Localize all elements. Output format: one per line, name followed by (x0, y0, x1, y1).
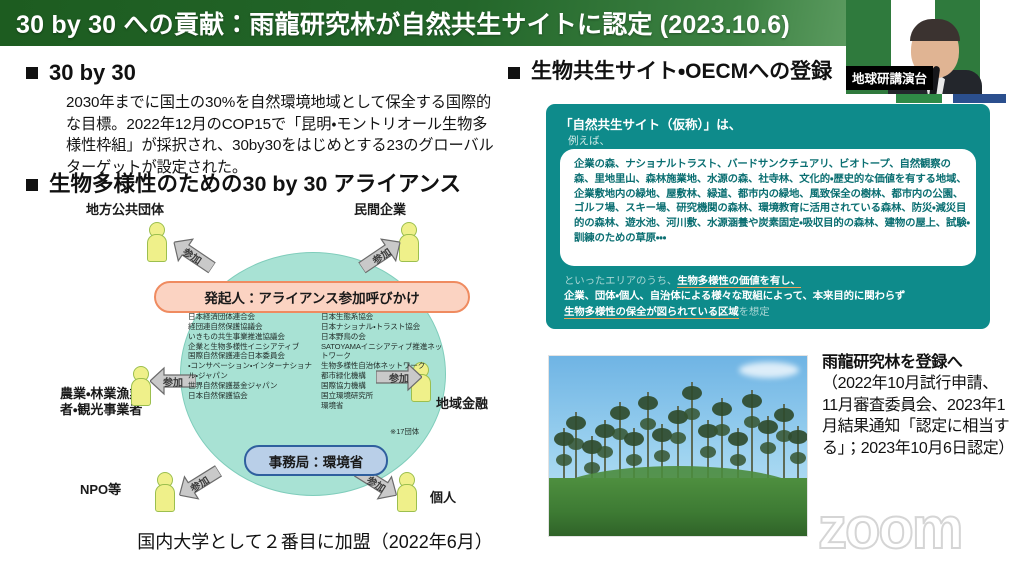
participation-arrow-local-government: 参加 (166, 230, 221, 281)
zoom-watermark: zoom (818, 498, 1018, 560)
bullet-square-icon (508, 67, 520, 79)
section-heading-oecm-label: 生物共生サイト・OECMへの登録 (531, 60, 832, 84)
section-heading-alliance: 生物多様性のための30 by 30 アライアンス (26, 172, 461, 197)
panel-footer-line3-tail: を想定 (739, 307, 770, 318)
list-item: 生物多様性自治体ネットワーク (321, 361, 446, 371)
person-icon-local-government (146, 222, 166, 260)
list-item: SATOYAMAイニシアティブ推進ネットワーク (321, 342, 446, 362)
video-speaker (887, 22, 983, 103)
list-item: 企業と生物多様性イニシアティブ (188, 342, 313, 352)
panel-footer-line2: 企業、団体・個人、自治体による様々な取組によって、本来目的に関わらず (564, 291, 905, 302)
list-item: 日本生態系協会 (321, 312, 446, 322)
secretariat-pill: 事務局：環境省 (244, 445, 388, 476)
registration-body: （2022年10月試行申請、11月審査委員会、2023年1月結果通知「認定に相当… (822, 375, 1014, 456)
list-item: 国際協力機構 (321, 381, 446, 391)
bullet-square-icon (26, 179, 38, 191)
member-organization-lists: 日本経済団体連合会 経団連自然保護協議会 いきもの共生事業推進協議会 企業と生物… (188, 312, 446, 411)
founder-pill: 発起人：アライアンス参加呼びかけ (154, 281, 470, 313)
list-item: 日本ナショナル・トラスト協会 (321, 322, 446, 332)
panel-title: 「自然共生サイト（仮称）」は、 (560, 114, 741, 133)
photo-cloud (739, 362, 799, 378)
panel-footer-line3-underlined: 生物多様性の保全が図られている区域 (564, 307, 739, 319)
panel-subtitle: 例えば、 (568, 133, 610, 148)
member-org-column-left: 日本経済団体連合会 経団連自然保護協議会 いきもの共生事業推進協議会 企業と生物… (188, 312, 313, 411)
actor-label-local-government: 地方公共団体 (86, 202, 164, 218)
bullet-square-icon (26, 67, 38, 79)
list-item: ・コンサベーション・インターナショナル・ジャパン (188, 361, 313, 381)
registration-text-block: 雨龍研究林を登録へ （2022年10月試行申請、11月審査委員会、2023年1月… (822, 352, 1012, 459)
slide-canvas: 30 by 30 への貢献：雨龍研究林が自然共生サイトに認定 (2023.10.… (0, 0, 1024, 576)
person-body-icon (131, 378, 151, 406)
panel-examples-text: 企業の森、ナショナルトラスト、バードサンクチュアリ、ビオトープ、自然観察の森、里… (574, 158, 970, 247)
panel-examples-box: 企業の森、ナショナルトラスト、バードサンクチュアリ、ビオトープ、自然観察の森、里… (560, 149, 976, 266)
list-item: いきもの共生事業推進協議会 (188, 332, 313, 342)
list-item: 国際自然保護連合日本委員会 (188, 351, 313, 361)
panel-footer-line1-dim: といったエリアのうち、 (564, 276, 677, 287)
speaker-hair (910, 19, 960, 41)
participation-arrow-label: 参加 (163, 374, 183, 389)
panel-footer-text: といったエリアのうち、生物多様性の価値を有し、 企業、団体・個人、自治体による様… (564, 274, 976, 320)
section-body-30by30: 2030年までに国土の30%を自然環境地域として保全する国際的な目標。2022年… (66, 92, 496, 178)
registration-heading: 雨龍研究林を登録へ (822, 352, 1012, 373)
actor-label-individual: 個人 (430, 490, 456, 506)
alliance-diagram: 地方公共団体 民間企業 農業・林業漁業者・観光事業者 地域金融 NPO等 個人 (58, 200, 518, 510)
member-org-column-right: 日本生態系協会 日本ナショナル・トラスト協会 日本野鳥の会 SATOYAMAイニ… (321, 312, 446, 411)
list-item: 環境省 (321, 401, 446, 411)
member-count-note: ※17団体 (390, 426, 419, 437)
panel-footer-line1-underlined: 生物多様性の価値を有し、 (677, 276, 801, 288)
shizenkyosei-site-panel: 「自然共生サイト（仮称）」は、 例えば、 企業の森、ナショナルトラスト、バードサ… (546, 104, 990, 329)
section-heading-30by30: 30 by 30 (26, 60, 136, 85)
video-name-label: 地球研講演台 (846, 66, 933, 90)
speaker-video-tile[interactable]: 地球研講演台 (846, 0, 1024, 103)
section-heading-oecm: 生物共生サイト・OECMへの登録 (508, 60, 832, 84)
actor-label-private-company: 民間企業 (354, 202, 406, 218)
list-item: 都市緑化機構 (321, 371, 446, 381)
video-bottom-strip (846, 94, 1024, 103)
actor-label-npo: NPO等 (80, 482, 121, 498)
person-icon-npo (154, 472, 174, 510)
section-heading-alliance-label: 生物多様性のための30 by 30 アライアンス (49, 172, 461, 197)
list-item: 経団連自然保護協議会 (188, 322, 313, 332)
section-heading-30by30-label: 30 by 30 (49, 60, 136, 85)
person-icon-agriculture (130, 366, 150, 404)
photo-ground (549, 478, 807, 536)
uryu-forest-photo (548, 355, 808, 537)
slide-title: 30 by 30 への貢献：雨龍研究林が自然共生サイトに認定 (2023.10.… (16, 5, 790, 41)
list-item: 日本野鳥の会 (321, 332, 446, 342)
participation-arrow-npo: 参加 (172, 458, 227, 508)
person-body-icon (155, 484, 175, 512)
list-item: 世界自然保護基金ジャパン (188, 381, 313, 391)
person-body-icon (147, 234, 167, 262)
list-item: 国立環境研究所 (321, 391, 446, 401)
list-item: 日本経済団体連合会 (188, 312, 313, 322)
alliance-caption: 国内大学として２番目に加盟（2022年6月） (100, 528, 530, 554)
list-item: 日本自然保護協会 (188, 391, 313, 401)
